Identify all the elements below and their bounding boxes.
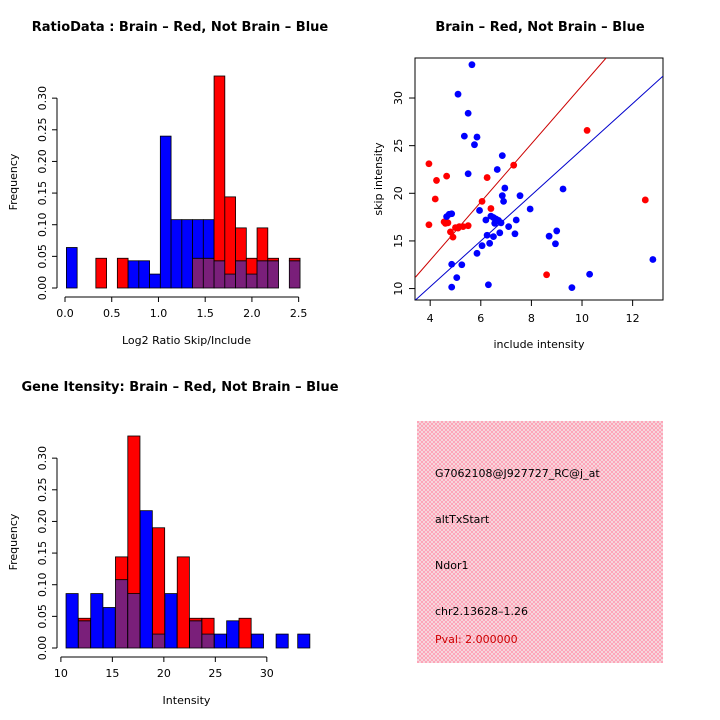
histogram-bar-overlap	[246, 274, 257, 288]
histogram-bar-not-brain	[251, 634, 263, 648]
histogram-bar-overlap	[190, 621, 202, 648]
histogram-bar-not-brain	[150, 274, 161, 288]
scatter-point-not-brain	[484, 232, 491, 239]
y-tick-label: 0.10	[36, 572, 49, 597]
x-tick-label: 6	[477, 312, 484, 325]
scatter-title: Brain – Red, Not Brain – Blue	[360, 20, 720, 35]
info-probe-id: G7062108@J927727_RC@j_at	[435, 467, 600, 480]
scatter-point-not-brain	[546, 233, 553, 240]
y-tick-label: 0.05	[36, 244, 49, 269]
histogram-bar-not-brain	[203, 220, 214, 259]
panel-ratio-histogram: RatioData : Brain – Red, Not Brain – Blu…	[0, 0, 360, 360]
histogram-bar-not-brain	[276, 634, 288, 648]
x-tick-label: 15	[105, 667, 119, 680]
histogram-bar-brain	[177, 557, 189, 648]
scatter-point-not-brain	[500, 198, 507, 205]
y-axis-title: skip intensity	[372, 142, 385, 216]
histogram-bar-not-brain	[165, 594, 177, 648]
histogram-bar-not-brain	[214, 634, 226, 648]
histogram-bar-overlap	[202, 634, 214, 648]
x-tick-label: 1.0	[150, 307, 168, 320]
panel-gene-intensity-histogram: Gene Itensity: Brain – Red, Not Brain – …	[0, 360, 360, 720]
x-tick-label: 1.5	[196, 307, 214, 320]
scatter-point-brain	[510, 162, 517, 169]
scatter-point-not-brain	[513, 217, 520, 224]
x-tick-label: 2.5	[290, 307, 308, 320]
histogram-bar-brain	[96, 258, 107, 288]
x-tick-label: 8	[528, 312, 535, 325]
scatter-point-not-brain	[490, 233, 497, 240]
histogram-bar-overlap	[225, 274, 236, 288]
y-tick-label: 0.20	[36, 149, 49, 174]
scatter-point-not-brain	[517, 192, 524, 199]
scatter-point-not-brain	[479, 242, 486, 249]
scatter-point-not-brain	[499, 192, 506, 199]
y-tick-label: 20	[392, 186, 405, 200]
intensity-scatter-plot: 1015202530skip intensity4681012include i…	[360, 0, 720, 360]
x-tick-label: 30	[260, 667, 274, 680]
histogram-bar-overlap	[214, 261, 225, 288]
scatter-point-brain	[488, 205, 495, 212]
histogram-bar-not-brain	[91, 594, 103, 648]
histogram-bar-overlap	[128, 594, 140, 648]
histogram-bar-brain	[78, 618, 90, 621]
info-event-type: altTxStart	[435, 513, 489, 526]
scatter-point-not-brain	[527, 206, 534, 213]
gene-info-box: G7062108@J927727_RC@j_at altTxStart Ndor…	[417, 421, 663, 663]
histogram-bar-not-brain	[182, 220, 193, 288]
scatter-point-brain	[642, 197, 649, 204]
panel-gene-info: G7062108@J927727_RC@j_at altTxStart Ndor…	[360, 360, 720, 720]
histogram-bar-brain	[246, 258, 257, 274]
scatter-point-not-brain	[498, 219, 505, 226]
scatter-point-not-brain	[552, 240, 559, 247]
scatter-point-brain	[479, 198, 486, 205]
x-tick-label: 12	[626, 312, 640, 325]
scatter-point-not-brain	[553, 228, 560, 235]
gene-histogram-title: Gene Itensity: Brain – Red, Not Brain – …	[0, 380, 360, 395]
x-tick-label: 25	[208, 667, 222, 680]
y-axis-title: Frequency	[7, 153, 20, 210]
histogram-bar-brain	[117, 258, 128, 288]
scatter-point-brain	[484, 174, 491, 181]
info-locus: chr2.13628–1.26	[435, 605, 528, 618]
y-tick-label: 0.00	[36, 636, 49, 661]
x-tick-label: 4	[427, 312, 434, 325]
scatter-point-not-brain	[448, 261, 455, 268]
y-tick-label: 0.20	[36, 509, 49, 534]
histogram-bar-not-brain	[193, 220, 204, 259]
histogram-bar-overlap	[236, 261, 247, 288]
histogram-bar-brain	[268, 258, 279, 261]
scatter-point-not-brain	[476, 207, 483, 214]
ratio-histogram-title: RatioData : Brain – Red, Not Brain – Blu…	[0, 20, 360, 35]
scatter-point-not-brain	[649, 256, 656, 263]
scatter-point-brain	[433, 177, 440, 184]
histogram-bar-not-brain	[227, 621, 239, 648]
histogram-bar-not-brain	[66, 594, 78, 648]
histogram-bar-brain	[190, 618, 202, 621]
y-tick-label: 30	[392, 91, 405, 105]
histogram-bar-brain	[153, 528, 165, 634]
histogram-bar-overlap	[268, 261, 279, 288]
scatter-point-brain	[465, 222, 472, 229]
y-axis-title: Frequency	[7, 513, 20, 570]
info-pval: Pval: 2.000000	[435, 633, 518, 646]
y-tick-label: 15	[392, 234, 405, 248]
histogram-bar-overlap	[78, 621, 90, 648]
scatter-point-brain	[584, 127, 591, 134]
y-tick-label: 0.00	[36, 276, 49, 301]
scatter-point-not-brain	[443, 213, 450, 220]
histogram-bar-brain	[289, 258, 300, 261]
histogram-bar-brain	[128, 436, 140, 594]
scatter-point-brain	[543, 271, 550, 278]
histogram-bar-brain	[214, 76, 225, 261]
y-tick-label: 0.15	[36, 181, 49, 206]
scatter-point-brain	[443, 173, 450, 180]
y-tick-label: 0.05	[36, 604, 49, 629]
gene-intensity-histogram-plot: 0.000.050.100.150.200.250.30Frequency101…	[0, 360, 360, 720]
scatter-point-not-brain	[461, 133, 468, 140]
y-tick-label: 25	[392, 139, 405, 153]
panel-intensity-scatter: Brain – Red, Not Brain – Blue 1015202530…	[360, 0, 720, 360]
info-gene-symbol: Ndor1	[435, 559, 468, 572]
histogram-bar-brain	[225, 197, 236, 274]
brain-fit-line	[416, 58, 607, 277]
scatter-point-brain	[426, 221, 433, 228]
scatter-point-brain	[444, 219, 451, 226]
scatter-point-not-brain	[465, 170, 472, 177]
y-tick-label: 0.10	[36, 212, 49, 237]
scatter-point-not-brain	[586, 271, 593, 278]
histogram-bar-not-brain	[171, 220, 182, 288]
histogram-bar-not-brain	[298, 634, 310, 648]
histogram-bar-not-brain	[128, 261, 139, 288]
scatter-point-not-brain	[501, 185, 508, 192]
x-axis-title: Log2 Ratio Skip/Include	[122, 334, 251, 347]
histogram-bar-overlap	[203, 258, 214, 288]
scatter-point-not-brain	[474, 250, 481, 257]
histogram-bar-brain	[239, 618, 251, 648]
scatter-point-not-brain	[458, 261, 465, 268]
scatter-point-not-brain	[453, 274, 460, 281]
histogram-bar-not-brain	[160, 136, 171, 288]
scatter-point-brain	[450, 234, 457, 241]
histogram-bar-overlap	[153, 634, 165, 648]
x-axis-title: Intensity	[163, 694, 211, 707]
scatter-point-brain	[432, 196, 439, 203]
scatter-point-not-brain	[455, 91, 462, 98]
histogram-bar-not-brain	[103, 607, 115, 648]
y-tick-label: 0.30	[36, 86, 49, 111]
y-tick-label: 0.30	[36, 446, 49, 471]
y-tick-label: 0.25	[36, 478, 49, 503]
histogram-bar-overlap	[257, 261, 268, 288]
x-tick-label: 10	[575, 312, 589, 325]
x-tick-label: 20	[157, 667, 171, 680]
histogram-bar-overlap	[115, 580, 127, 648]
scatter-point-not-brain	[471, 141, 478, 148]
svg-bl-bars	[66, 436, 310, 648]
scatter-point-not-brain	[448, 284, 455, 291]
scatter-point-not-brain	[560, 186, 567, 193]
scatter-point-brain	[426, 160, 433, 167]
scatter-point-not-brain	[485, 281, 492, 288]
scatter-point-not-brain	[512, 230, 519, 237]
histogram-bar-brain	[236, 228, 247, 261]
scatter-point-not-brain	[499, 152, 506, 159]
ratio-histogram-plot: 0.000.050.100.150.200.250.30Frequency0.0…	[0, 0, 360, 360]
histogram-bar-overlap	[193, 258, 204, 288]
histogram-bar-not-brain	[140, 511, 152, 648]
y-tick-label: 0.25	[36, 118, 49, 143]
scatter-point-not-brain	[486, 240, 493, 247]
scatter-point-not-brain	[494, 166, 501, 173]
histogram-bar-not-brain	[139, 261, 150, 288]
scatter-point-not-brain	[568, 284, 575, 291]
histogram-bar-not-brain	[66, 247, 77, 288]
y-tick-label: 0.15	[36, 541, 49, 566]
x-axis-title: include intensity	[493, 338, 585, 351]
scatter-content	[416, 58, 663, 300]
scatter-point-not-brain	[505, 223, 512, 230]
x-tick-label: 10	[54, 667, 68, 680]
scatter-point-not-brain	[496, 229, 503, 236]
histogram-bar-overlap	[289, 261, 300, 288]
histogram-bar-brain	[202, 618, 214, 634]
scatter-point-not-brain	[491, 220, 498, 227]
svg-tl-bars	[66, 76, 300, 288]
scatter-point-not-brain	[469, 61, 476, 68]
y-tick-label: 10	[392, 282, 405, 296]
histogram-bar-brain	[257, 228, 268, 261]
x-tick-label: 2.0	[243, 307, 261, 320]
histogram-bar-brain	[115, 557, 127, 580]
x-tick-label: 0.0	[56, 307, 74, 320]
scatter-point-not-brain	[474, 134, 481, 141]
scatter-point-not-brain	[465, 110, 472, 117]
x-tick-label: 0.5	[103, 307, 121, 320]
